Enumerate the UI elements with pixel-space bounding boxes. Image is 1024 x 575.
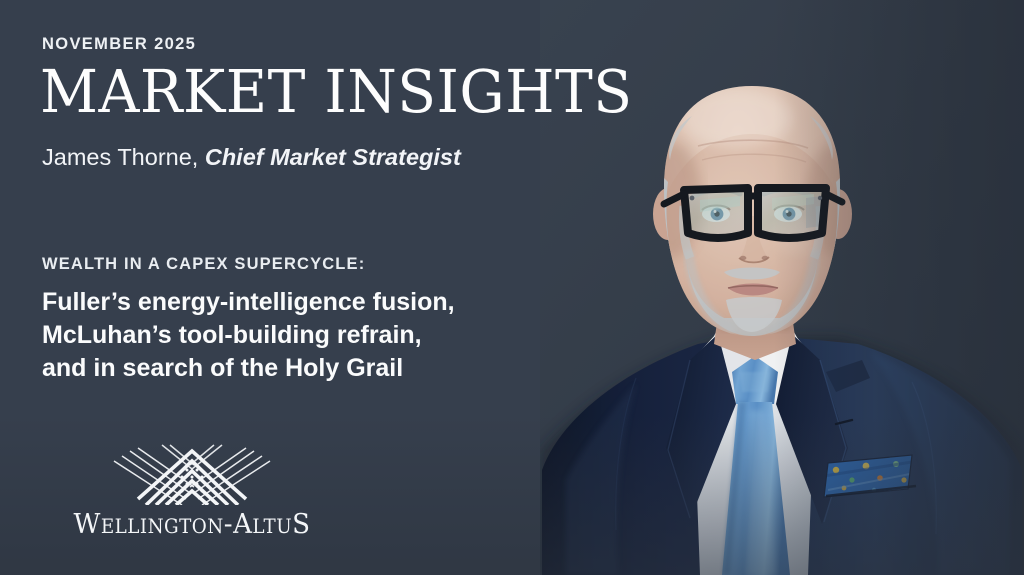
- logo-word-s: S: [292, 508, 310, 540]
- byline: James Thorne, Chief Market Strategist: [42, 144, 461, 171]
- issue-date: NOVEMBER 2025: [42, 35, 196, 54]
- feature-eyebrow: WEALTH IN A CAPEX SUPERCYCLE:: [42, 255, 365, 274]
- deck-line-3: and in search of the Holy Grail: [42, 352, 455, 385]
- wellington-altus-logo: WELLINGTON-ALTUS: [42, 443, 342, 540]
- wellington-altus-chevron-mark: [42, 443, 342, 505]
- logo-wordmark: WELLINGTON-ALTUS: [50, 508, 335, 540]
- deck-line-1: Fuller’s energy-intelligence fusion,: [42, 286, 455, 319]
- market-insights-cover: NOVEMBER 2025 MARKET INSIGHTS James Thor…: [0, 0, 1024, 575]
- logo-word-a: A: [233, 508, 252, 540]
- logo-word-w: W: [73, 508, 100, 540]
- logo-word-ltu: LTU: [252, 515, 292, 538]
- feature-deck: Fuller’s energy-intelligence fusion, McL…: [42, 286, 455, 385]
- byline-name: James Thorne,: [42, 144, 198, 170]
- logo-word-ellington: ELLINGTON: [101, 515, 224, 538]
- page-title: MARKET INSIGHTS: [40, 62, 633, 121]
- deck-line-2: McLuhan’s tool-building refrain,: [42, 319, 455, 352]
- text-column: NOVEMBER 2025 MARKET INSIGHTS James Thor…: [42, 0, 602, 575]
- byline-role: Chief Market Strategist: [205, 144, 461, 170]
- logo-word-hyphen: -: [224, 508, 233, 540]
